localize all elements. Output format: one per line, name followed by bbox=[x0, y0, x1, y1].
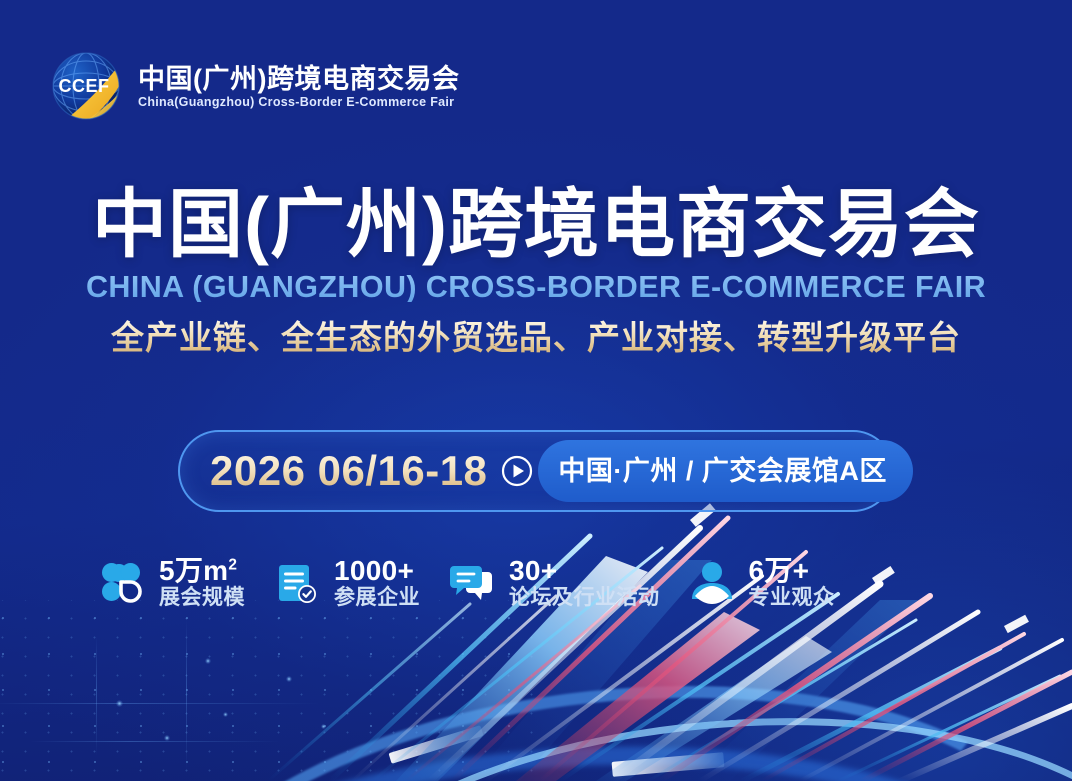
event-date: 2026 06/16-18 bbox=[210, 450, 487, 492]
glow-dot-decoration bbox=[205, 658, 211, 664]
hero-headline-block: 中国(广州)跨境电商交易会 CHINA (GUANGZHOU) CROSS-BO… bbox=[0, 186, 1072, 356]
stat-item: 5万m2 展会规模 bbox=[96, 556, 245, 609]
light-arc-decoration bbox=[388, 725, 483, 764]
light-arc-decoration bbox=[287, 690, 1072, 781]
light-arc-decoration bbox=[612, 752, 725, 777]
ccef-globe-logo-icon: CCEF bbox=[48, 48, 124, 124]
stat-value: 5万m2 bbox=[159, 556, 245, 585]
document-check-icon bbox=[271, 557, 323, 609]
hairline-decoration bbox=[186, 620, 187, 770]
brand-name-en: China(Guangzhou) Cross-Border E-Commerce… bbox=[138, 96, 459, 109]
stat-text: 1000+ 参展企业 bbox=[334, 556, 420, 609]
light-arc-decoration bbox=[129, 643, 1072, 781]
chat-bubbles-icon bbox=[446, 557, 498, 609]
promo-poster: CCEF 中国(广州)跨境电商交易会 China(Guangzhou) Cros… bbox=[0, 0, 1072, 781]
visitor-person-icon bbox=[686, 557, 738, 609]
stat-value: 30+ bbox=[509, 556, 660, 585]
stat-label: 参展企业 bbox=[334, 587, 420, 609]
particle-grid-decoration bbox=[0, 600, 540, 781]
event-venue-pill: 中国·广州 / 广交会展馆A区 bbox=[538, 440, 913, 502]
stat-item: 6万+ 专业观众 bbox=[686, 556, 835, 609]
clover-area-icon bbox=[96, 557, 148, 609]
glow-dot-decoration bbox=[321, 724, 326, 729]
glow-dot-decoration bbox=[116, 700, 123, 707]
stat-item: 30+ 论坛及行业活动 bbox=[446, 556, 660, 609]
stat-label: 论坛及行业活动 bbox=[509, 587, 660, 609]
svg-text:CCEF: CCEF bbox=[59, 76, 110, 96]
stat-text: 30+ 论坛及行业活动 bbox=[509, 556, 660, 609]
hairline-decoration bbox=[30, 741, 280, 742]
play-circle-icon bbox=[501, 455, 533, 487]
event-venue: 中国·广州 / 广交会展馆A区 bbox=[558, 458, 887, 485]
stat-value: 1000+ bbox=[334, 556, 420, 585]
brand-name-cn: 中国(广州)跨境电商交易会 bbox=[138, 65, 459, 93]
stat-label: 专业观众 bbox=[749, 587, 835, 609]
stat-text: 6万+ 专业观众 bbox=[749, 556, 835, 609]
brand-logo-lockup[interactable]: CCEF 中国(广州)跨境电商交易会 China(Guangzhou) Cros… bbox=[48, 48, 459, 124]
stat-value: 6万+ bbox=[749, 556, 835, 585]
glow-dot-decoration bbox=[164, 735, 170, 741]
stat-text: 5万m2 展会规模 bbox=[159, 556, 245, 609]
hero-tagline: 全产业链、全生态的外贸选品、产业对接、转型升级平台 bbox=[0, 320, 1072, 356]
stat-label: 展会规模 bbox=[159, 587, 245, 609]
hairline-decoration bbox=[96, 636, 97, 756]
brand-text-block: 中国(广州)跨境电商交易会 China(Guangzhou) Cross-Bor… bbox=[138, 63, 459, 109]
hairline-decoration bbox=[0, 703, 320, 704]
stat-item: 1000+ 参展企业 bbox=[271, 556, 420, 609]
stats-row: 5万m2 展会规模 1000+ bbox=[96, 556, 996, 609]
event-date-venue-bar[interactable]: 2026 06/16-18 中国·广州 / 广交会展馆A区 bbox=[178, 430, 894, 512]
page-subtitle-en: CHINA (GUANGZHOU) CROSS-BORDER E-COMMERC… bbox=[0, 272, 1072, 303]
light-arc-decoration bbox=[49, 721, 1072, 781]
glow-dot-decoration bbox=[286, 676, 292, 682]
page-title: 中国(广州)跨境电商交易会 bbox=[0, 186, 1072, 263]
glow-dot-decoration bbox=[223, 712, 228, 717]
